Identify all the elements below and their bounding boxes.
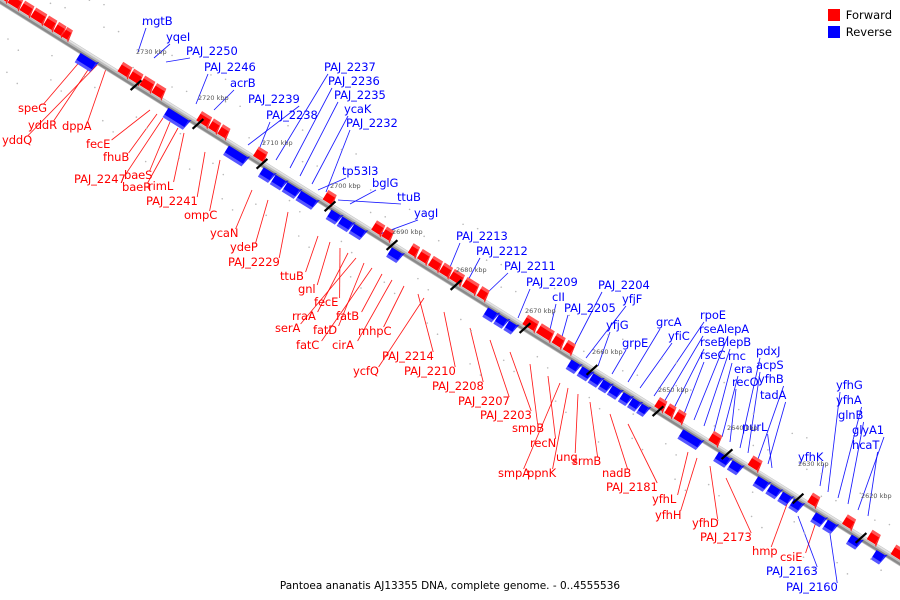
legend-label-forward: Forward xyxy=(846,8,892,22)
background-speckle xyxy=(186,91,188,93)
background-speckle xyxy=(302,129,304,131)
background-speckle xyxy=(565,411,567,413)
gene-label-speg[interactable]: speG xyxy=(18,103,47,115)
gene-label-yfhh[interactable]: yfhH xyxy=(655,510,681,522)
tick-marks xyxy=(0,0,900,600)
background-speckle xyxy=(685,490,687,492)
background-speckle xyxy=(50,79,52,81)
leader-line xyxy=(714,363,732,432)
gene-label-paj_2207[interactable]: PAJ_2207 xyxy=(458,396,510,408)
gene-label-yfhl[interactable]: yfhL xyxy=(652,494,676,506)
leader-line xyxy=(210,160,220,211)
leader-line xyxy=(470,328,483,382)
background-speckle xyxy=(355,153,357,155)
background-speckle xyxy=(171,86,173,88)
gene-label-yfjf[interactable]: yfjF xyxy=(622,294,642,306)
gene-label-ppnk[interactable]: ppnK xyxy=(527,468,556,480)
gene-label-sera[interactable]: serA xyxy=(275,323,300,335)
gene-label-ttub[interactable]: ttuB xyxy=(280,271,304,283)
gene-label-rpoe[interactable]: rpoE xyxy=(700,310,726,322)
gene-label-paj_2210[interactable]: PAJ_2210 xyxy=(404,366,456,378)
gene-label-era[interactable]: era xyxy=(734,364,753,376)
gene-label-yddr[interactable]: yddR xyxy=(28,120,57,132)
background-speckle xyxy=(248,137,250,139)
background-speckle xyxy=(480,374,482,376)
gene-label-ompc[interactable]: ompC xyxy=(184,210,217,222)
genome-map-canvas xyxy=(0,0,900,600)
background-speckle xyxy=(675,454,677,456)
leader-line xyxy=(510,352,531,411)
gene-label-paj_2247[interactable]: PAJ_2247 xyxy=(74,174,126,186)
background-speckle xyxy=(102,120,104,122)
leader-line xyxy=(88,66,107,122)
gene-label-mgtb[interactable]: mgtB xyxy=(142,16,173,28)
background-speckle xyxy=(537,356,539,358)
gene-label-ycfq[interactable]: ycfQ xyxy=(353,366,379,378)
background-speckle xyxy=(409,209,411,211)
background-speckle xyxy=(370,212,372,214)
background-speckle xyxy=(287,125,289,127)
forward-color-swatch xyxy=(828,9,840,21)
background-speckle xyxy=(751,516,753,518)
background-speckle xyxy=(136,116,138,118)
axis-tick-label: 2640 kbp xyxy=(727,424,758,432)
gene-label-baer[interactable]: baeR xyxy=(122,182,151,194)
background-speckle xyxy=(7,38,9,40)
leader-line xyxy=(548,376,556,439)
gene-label-paj_2238[interactable]: PAJ_2238 xyxy=(266,110,318,122)
background-speckle xyxy=(289,200,291,202)
gene-label-paj_2213[interactable]: PAJ_2213 xyxy=(456,231,508,243)
background-speckle xyxy=(118,31,120,33)
axis-tick-label: 2660 kbp xyxy=(592,348,623,356)
legend-item-reverse: Reverse xyxy=(828,25,892,39)
background-speckle xyxy=(599,408,601,410)
gene-label-yfic[interactable]: yfiC xyxy=(668,331,690,343)
background-speckle xyxy=(555,400,557,402)
gene-label-lepb[interactable]: lepB xyxy=(726,337,751,349)
gene-label-fatc[interactable]: fatC xyxy=(296,340,319,352)
axis-tick-label: 2620 kbp xyxy=(861,492,892,500)
gene-label-paj_2235[interactable]: PAJ_2235 xyxy=(334,90,386,102)
leader-line xyxy=(150,122,170,171)
background-speckle xyxy=(632,413,634,415)
background-speckle xyxy=(500,286,502,288)
background-speckle xyxy=(547,367,549,369)
gene-label-yfhg[interactable]: yfhG xyxy=(836,380,863,392)
gene-label-dppa[interactable]: dppA xyxy=(62,121,91,133)
background-speckle xyxy=(427,289,429,291)
gene-label-mhpc[interactable]: mhpC xyxy=(358,326,391,338)
background-speckle xyxy=(308,246,310,248)
background-speckle xyxy=(360,287,362,289)
background-speckle xyxy=(513,371,515,373)
axis-tick-label: 2720 kbp xyxy=(198,94,229,102)
background-speckle xyxy=(889,524,891,526)
background-speckle xyxy=(438,240,440,242)
background-speckle xyxy=(64,7,66,9)
background-speckle xyxy=(383,281,385,283)
background-speckle xyxy=(665,443,667,445)
leader-line xyxy=(197,152,205,197)
gene-label-hcat[interactable]: hcaT xyxy=(852,440,879,452)
axis-tick-label: 2630 kbp xyxy=(798,460,829,468)
background-speckle xyxy=(821,473,823,475)
gene-label-yfhd[interactable]: yfhD xyxy=(692,518,719,530)
gene-label-yfha[interactable]: yfhA xyxy=(836,395,862,407)
background-speckle xyxy=(212,163,214,165)
gene-label-paj_2236[interactable]: PAJ_2236 xyxy=(328,76,380,88)
background-speckle xyxy=(299,211,301,213)
axis-tick-label: 2680 kbp xyxy=(456,266,487,274)
gene-label-rnc[interactable]: rnc xyxy=(728,351,746,363)
background-speckle xyxy=(622,370,624,372)
gene-label-paj_2246[interactable]: PAJ_2246 xyxy=(204,62,256,74)
gene-label-bglg[interactable]: bglG xyxy=(372,178,398,190)
background-speckle xyxy=(298,235,300,237)
background-speckle xyxy=(503,359,505,361)
background-speckle xyxy=(836,562,838,564)
background-speckle xyxy=(232,209,234,211)
gene-label-paj_2204[interactable]: PAJ_2204 xyxy=(598,280,650,292)
background-speckle xyxy=(675,362,677,364)
background-speckle xyxy=(761,527,763,529)
background-speckle xyxy=(500,264,502,266)
leader-line xyxy=(868,452,878,516)
gene-label-acrb[interactable]: acrB xyxy=(230,78,256,90)
background-speckle xyxy=(16,83,18,85)
gene-label-ydep[interactable]: ydeP xyxy=(230,242,258,254)
leader-line xyxy=(166,58,190,62)
gene-label-paj_2181[interactable]: PAJ_2181 xyxy=(606,482,658,494)
gene-label-reco[interactable]: recO xyxy=(732,377,759,389)
background-speckle xyxy=(132,67,134,69)
background-speckle xyxy=(265,215,267,217)
gene-label-paj_2239[interactable]: PAJ_2239 xyxy=(248,94,300,106)
gene-label-glya1[interactable]: glyA1 xyxy=(852,425,884,437)
leader-line xyxy=(575,394,578,453)
gene-label-yagi[interactable]: yagI xyxy=(414,208,438,220)
gene-label-paj_2250[interactable]: PAJ_2250 xyxy=(186,46,238,58)
background-speckle xyxy=(146,127,148,129)
background-speckle xyxy=(870,558,872,560)
background-speckle xyxy=(255,203,257,205)
background-speckle xyxy=(60,90,62,92)
leader-line xyxy=(306,236,318,272)
background-speckle xyxy=(804,532,806,534)
gene-label-ycak[interactable]: ycaK xyxy=(344,104,371,116)
gene-label-grca[interactable]: grcA xyxy=(656,317,682,329)
background-speckle xyxy=(341,241,343,243)
background-speckle xyxy=(6,71,8,73)
leader-line xyxy=(490,340,509,397)
background-speckle xyxy=(874,519,876,521)
background-speckle xyxy=(18,49,20,51)
background-speckle xyxy=(189,168,191,170)
background-speckle xyxy=(470,330,472,332)
figure-caption: Pantoea ananatis AJ13355 DNA, complete g… xyxy=(0,580,900,592)
gene-label-grpe[interactable]: grpE xyxy=(622,338,648,350)
gene-label-yfhb[interactable]: yfhB xyxy=(758,374,784,386)
gene-label-csie[interactable]: csiE xyxy=(780,552,802,564)
gene-label-paj_2163[interactable]: PAJ_2163 xyxy=(766,566,818,578)
background-speckle xyxy=(239,105,241,107)
background-speckle xyxy=(803,556,805,558)
leader-line xyxy=(236,190,252,229)
gene-label-paj_2237[interactable]: PAJ_2237 xyxy=(324,62,376,74)
background-speckle xyxy=(103,26,105,28)
background-speckle xyxy=(423,236,425,238)
gene-label-fece[interactable]: fecE xyxy=(314,297,338,309)
gene-label-nadb[interactable]: nadB xyxy=(602,468,631,480)
gene-label-paj_2212[interactable]: PAJ_2212 xyxy=(476,246,528,258)
background-speckle xyxy=(89,0,91,1)
leader-line xyxy=(628,424,657,483)
gene-label-smpb[interactable]: smpB xyxy=(512,423,544,435)
gene-label-paj_2208[interactable]: PAJ_2208 xyxy=(432,381,484,393)
background-speckle xyxy=(302,161,304,163)
strand-legend: Forward Reverse xyxy=(828,8,892,39)
leader-line xyxy=(710,466,718,519)
gene-label-fatd[interactable]: fatD xyxy=(313,325,337,337)
leader-line xyxy=(726,478,751,533)
background-speckle xyxy=(515,291,517,293)
background-speckle xyxy=(718,495,720,497)
background-speckle xyxy=(50,3,52,5)
leader-line xyxy=(338,200,401,204)
gene-label-rsea[interactable]: rseA xyxy=(699,324,724,336)
background-speckle xyxy=(112,131,114,133)
gene-label-yqei[interactable]: yqeI xyxy=(166,32,190,44)
background-speckle xyxy=(588,397,590,399)
background-speckle xyxy=(384,216,386,218)
gene-label-ttub[interactable]: ttuB xyxy=(397,192,421,204)
gene-label-paj_2205[interactable]: PAJ_2205 xyxy=(564,303,616,315)
background-speckle xyxy=(723,382,725,384)
background-speckle xyxy=(51,55,53,57)
axis-tick-label: 2670 kbp xyxy=(525,307,556,315)
background-speckle xyxy=(221,198,223,200)
background-speckle xyxy=(94,87,96,89)
gene-label-recn[interactable]: recN xyxy=(530,438,556,450)
background-speckle xyxy=(103,4,105,6)
gene-label-pdxj[interactable]: pdxJ xyxy=(756,346,780,358)
gene-label-rseb[interactable]: rseB xyxy=(700,337,725,349)
background-speckle xyxy=(341,149,343,151)
legend-label-reverse: Reverse xyxy=(846,25,892,39)
background-speckle xyxy=(806,469,808,471)
gene-label-smpa[interactable]: smpA xyxy=(498,468,530,480)
background-speckle xyxy=(835,500,837,502)
background-speckle xyxy=(180,133,182,135)
leader-line xyxy=(828,392,840,492)
reverse-color-swatch xyxy=(828,26,840,38)
background-speckle xyxy=(806,437,808,439)
gene-label-gnl[interactable]: gnl xyxy=(298,284,315,296)
background-speckle xyxy=(394,293,396,295)
background-speckle xyxy=(145,161,147,163)
background-speckle xyxy=(316,165,318,167)
background-speckle xyxy=(738,409,740,411)
gene-label-yfjg[interactable]: yfjG xyxy=(606,320,629,332)
gene-label-paj_2241[interactable]: PAJ_2241 xyxy=(146,196,198,208)
background-speckle xyxy=(598,441,600,443)
background-speckle xyxy=(753,413,755,415)
axis-tick-label: 2700 kbp xyxy=(330,182,361,190)
gene-label-cii[interactable]: cII xyxy=(552,292,565,304)
background-speckle xyxy=(637,374,639,376)
axis-tick-label: 2730 kbp xyxy=(136,48,167,56)
leader-line xyxy=(279,212,288,258)
gene-label-fece[interactable]: fecE xyxy=(86,139,110,151)
legend-item-forward: Forward xyxy=(828,8,892,22)
gene-label-rsec[interactable]: rseC xyxy=(700,350,725,362)
leader-lines xyxy=(28,28,884,583)
gene-label-yddq[interactable]: yddQ xyxy=(2,135,32,147)
leader-line xyxy=(384,286,404,327)
background-speckle xyxy=(417,278,419,280)
background-speckle xyxy=(179,157,181,159)
background-speckle xyxy=(350,276,352,278)
background-speckle xyxy=(661,358,663,360)
leader-line xyxy=(444,312,455,367)
leader-line xyxy=(681,458,697,511)
background-speckle xyxy=(674,478,676,480)
gene-label-riml[interactable]: rimL xyxy=(148,181,173,193)
leader-line xyxy=(112,110,150,140)
gene-label-paj_2232[interactable]: PAJ_2232 xyxy=(346,118,398,130)
background-speckle xyxy=(225,78,227,80)
gene-label-cira[interactable]: cirA xyxy=(332,340,354,352)
background-speckle xyxy=(583,351,585,353)
gene-label-fhub[interactable]: fhuB xyxy=(103,152,129,164)
gene-label-ycan[interactable]: ycaN xyxy=(210,228,238,240)
axis-tick-label: 2710 kbp xyxy=(262,139,293,147)
background-speckle xyxy=(642,449,644,451)
leader-line xyxy=(590,402,598,457)
background-speckle xyxy=(469,363,471,365)
background-speckle xyxy=(462,223,464,225)
leader-line xyxy=(678,452,688,495)
leader-line xyxy=(418,294,433,352)
gene-label-acps[interactable]: acpS xyxy=(756,360,784,372)
gene-label-paj_2209[interactable]: PAJ_2209 xyxy=(526,277,578,289)
leader-line xyxy=(730,389,736,442)
gene-label-glnb[interactable]: glnB xyxy=(838,410,863,422)
background-speckle xyxy=(708,484,710,486)
background-speckle xyxy=(171,55,173,57)
leader-line xyxy=(610,414,628,469)
leader-line xyxy=(830,534,837,583)
background-speckle xyxy=(426,322,428,324)
gene-label-hmp[interactable]: hmp xyxy=(752,546,778,558)
background-speckle xyxy=(753,445,755,447)
background-speckle xyxy=(210,74,212,76)
gene-label-paj_2229[interactable]: PAJ_2229 xyxy=(228,257,280,269)
leader-line xyxy=(362,274,382,312)
background-speckle xyxy=(714,425,716,427)
background-speckle xyxy=(351,252,353,254)
background-speckle xyxy=(222,174,224,176)
gene-label-paj_2214[interactable]: PAJ_2214 xyxy=(382,351,434,363)
background-speckle xyxy=(460,319,462,321)
background-speckle xyxy=(791,433,793,435)
background-speckle xyxy=(767,449,769,451)
gene-label-paj_2173[interactable]: PAJ_2173 xyxy=(700,532,752,544)
background-speckle xyxy=(631,438,633,440)
axis-tick-label: 2650 kbp xyxy=(658,386,689,394)
background-speckle xyxy=(437,333,439,335)
gene-label-paj_2211[interactable]: PAJ_2211 xyxy=(504,261,556,273)
background-speckle xyxy=(821,495,823,497)
background-speckle xyxy=(880,569,882,571)
background-speckle xyxy=(607,334,609,336)
genome-map-view: speGyddRyddQdppAfecEfhuBPAJ_2247baeSbaeR… xyxy=(0,0,900,600)
background-speckle xyxy=(793,521,795,523)
leader-line xyxy=(256,200,268,243)
gene-label-paj_2203[interactable]: PAJ_2203 xyxy=(480,410,532,422)
gene-label-srmb[interactable]: srmB xyxy=(572,456,601,468)
gene-label-fatb[interactable]: fatB xyxy=(336,311,359,323)
gene-label-lepa[interactable]: lepA xyxy=(724,324,749,336)
leader-line xyxy=(317,242,330,285)
background-speckle xyxy=(752,491,754,493)
background-speckle xyxy=(84,75,86,77)
background-speckle xyxy=(690,389,692,391)
gene-label-tada[interactable]: tadA xyxy=(760,390,786,402)
background-speckle xyxy=(847,573,849,575)
axis-tick-label: 2690 kbp xyxy=(392,228,423,236)
background-speckle xyxy=(486,259,488,261)
leader-line xyxy=(125,118,163,175)
